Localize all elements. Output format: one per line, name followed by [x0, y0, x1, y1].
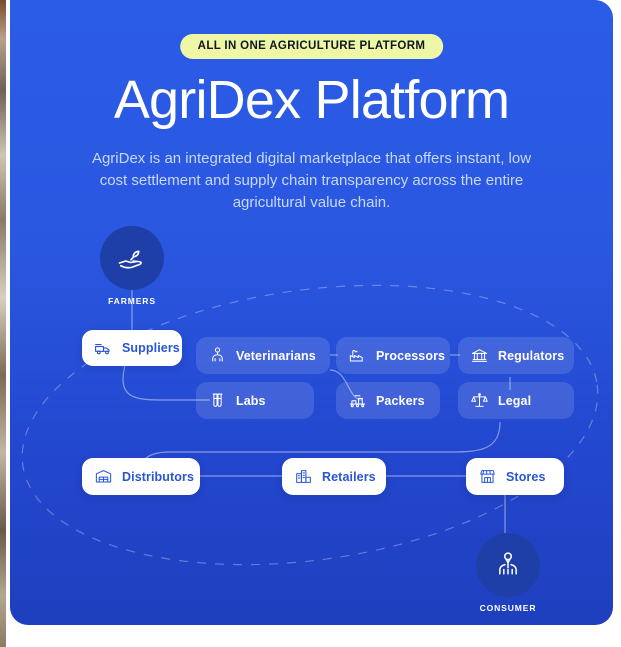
- chip-suppliers-label: Suppliers: [122, 341, 180, 355]
- bank-icon: [470, 346, 489, 365]
- node-farmers-label: FARMERS: [72, 296, 192, 306]
- storefront-icon: [478, 467, 497, 486]
- conveyor-icon: [348, 391, 367, 410]
- chip-suppliers[interactable]: Suppliers: [82, 330, 182, 366]
- ecosystem-diagram: FARMERS CONSUMER: [10, 0, 613, 625]
- test-tube-icon: [208, 391, 227, 410]
- chip-stores[interactable]: Stores: [466, 458, 564, 495]
- chip-packers[interactable]: Packers: [336, 382, 440, 419]
- chip-legal[interactable]: Legal: [458, 382, 574, 419]
- chip-packers-label: Packers: [376, 394, 425, 408]
- chip-labs[interactable]: Labs: [196, 382, 314, 419]
- chip-veterinarians[interactable]: Veterinarians: [196, 337, 330, 374]
- node-consumer[interactable]: [476, 533, 540, 597]
- chip-distributors[interactable]: Distributors: [82, 458, 200, 495]
- chip-stores-label: Stores: [506, 470, 546, 484]
- scales-icon: [470, 391, 489, 410]
- hand-sprout-icon: [117, 243, 147, 273]
- chip-labs-label: Labs: [236, 394, 266, 408]
- buildings-icon: [294, 467, 313, 486]
- vet-icon: [208, 346, 227, 365]
- chip-legal-label: Legal: [498, 394, 531, 408]
- chip-processors[interactable]: Processors: [336, 337, 450, 374]
- person-icon: [494, 551, 522, 579]
- background-photo-sliver: [0, 0, 6, 647]
- chip-processors-label: Processors: [376, 349, 445, 363]
- hero-panel: ALL IN ONE AGRICULTURE PLATFORM AgriDex …: [10, 0, 613, 625]
- chip-retailers[interactable]: Retailers: [282, 458, 386, 495]
- warehouse-icon: [94, 467, 113, 486]
- diagram-connectors: [10, 0, 613, 625]
- chip-regulators[interactable]: Regulators: [458, 337, 574, 374]
- screenshot-root: ALL IN ONE AGRICULTURE PLATFORM AgriDex …: [0, 0, 621, 647]
- chip-regulators-label: Regulators: [498, 349, 564, 363]
- node-farmers[interactable]: [100, 226, 164, 290]
- truck-icon: [94, 339, 113, 358]
- chip-retailers-label: Retailers: [322, 470, 376, 484]
- node-consumer-label: CONSUMER: [448, 603, 568, 613]
- factory-icon: [348, 346, 367, 365]
- chip-distributors-label: Distributors: [122, 470, 194, 484]
- chip-veterinarians-label: Veterinarians: [236, 349, 316, 363]
